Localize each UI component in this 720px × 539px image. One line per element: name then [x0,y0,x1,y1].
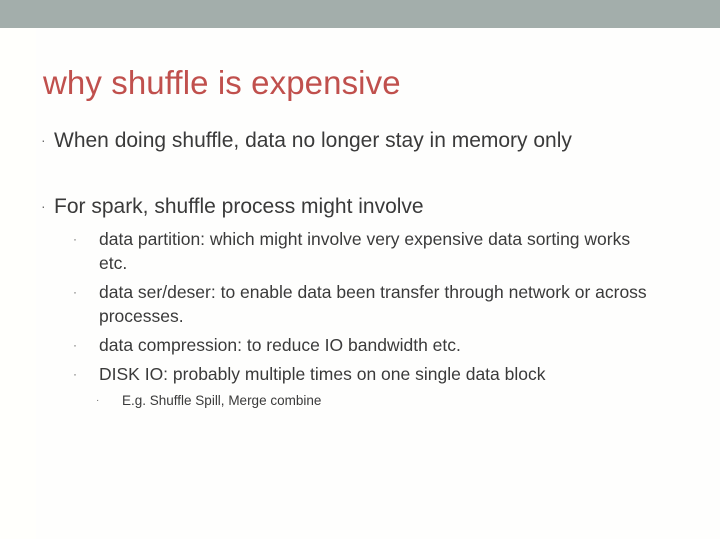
slide-canvas: why shuffle is expensive · When doing sh… [0,0,720,539]
bullet-level2-label: data ser/deser: to enable data been tran… [99,280,657,328]
bullet-dot-icon: · [73,280,77,304]
bullet-level1-label: For spark, shuffle process might involve [54,192,720,221]
bullet-level1-label: When doing shuffle, data no longer stay … [54,126,720,155]
slide-top-band [0,0,720,28]
bullet-dot-icon: · [73,362,77,386]
bullet-level3-label: E.g. Shuffle Spill, Merge combine [122,393,321,408]
bullet-dot-icon: · [73,227,77,251]
bullet-dot-icon: · [41,126,46,155]
bullet-level2-item: · data partition: which might involve ve… [0,227,720,275]
bullet-level2-item: · data ser/deser: to enable data been tr… [0,280,720,328]
bullet-level3-item: · E.g. Shuffle Spill, Merge combine [0,391,720,411]
bullet-dot-icon: · [73,333,77,357]
bullet-level2-group: · data partition: which might involve ve… [0,227,720,411]
bullet-level2-label: data compression: to reduce IO bandwidth… [99,333,657,357]
bullet-level2-label: DISK IO: probably multiple times on one … [99,362,657,386]
bullet-level1-item: · For spark, shuffle process might invol… [0,192,720,221]
slide-body: · When doing shuffle, data no longer sta… [0,126,720,411]
bullet-level2-label: data partition: which might involve very… [99,227,657,275]
bullet-level1-item: · When doing shuffle, data no longer sta… [0,126,720,155]
bullet-dot-icon: · [96,391,99,411]
slide-title: why shuffle is expensive [43,63,401,103]
bullet-level2-item: · data compression: to reduce IO bandwid… [0,333,720,357]
bullet-level2-item: · DISK IO: probably multiple times on on… [0,362,720,386]
bullet-spacer [0,155,720,192]
bullet-dot-icon: · [41,192,46,221]
